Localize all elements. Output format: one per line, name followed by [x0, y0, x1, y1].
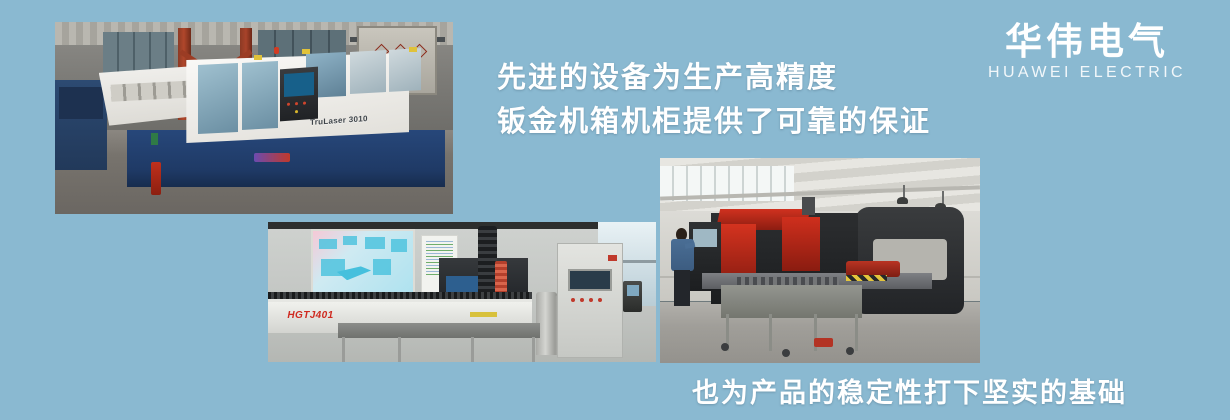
cnc-control-cabinet [557, 243, 623, 358]
cnc-button-4 [598, 298, 602, 302]
caster-wheel-2 [782, 349, 790, 357]
photo3-scene [660, 158, 980, 363]
table-leg [471, 337, 474, 362]
green-junction-box [151, 133, 159, 145]
headline-text: 先进的设备为生产高精度 钣金机箱机柜提供了可靠的保证 [497, 56, 931, 144]
company-logo: 华伟电气 HUAWEI ELECTRIC [988, 22, 1186, 82]
cnc-button-2 [580, 298, 584, 302]
notice-line [426, 256, 453, 257]
machine-model-label: HGTJ401 [287, 310, 333, 321]
photo1-scene: TruLaser 3010 [55, 22, 453, 214]
exhaust-stack [802, 197, 815, 215]
control-button-4 [295, 111, 298, 114]
side-cabinet [55, 80, 107, 170]
cnc-screen [568, 269, 612, 291]
headline-line-1: 先进的设备为生产高精度 [497, 56, 931, 100]
foot-pedal [814, 338, 833, 346]
work-table-legs [338, 337, 540, 362]
bed-slat-teeth [268, 292, 532, 299]
cnc-emergency-label [608, 255, 617, 261]
conveyor-leg [769, 314, 772, 351]
logo-chinese-name: 华伟电气 [988, 22, 1186, 62]
photo-cnc-turret-punch-press [660, 158, 980, 363]
status-beacon-light [274, 47, 279, 54]
tool-tray [254, 153, 290, 163]
photo-cnc-cutting-machine: HGTJ401 [268, 222, 656, 362]
notice-line [426, 247, 453, 248]
conveyor-legs [721, 314, 862, 351]
notice-line [426, 241, 453, 242]
wall-poster-chart [311, 229, 416, 296]
cnc-button-1 [571, 298, 575, 302]
punched-sheet-pattern [737, 277, 839, 285]
operator-control-panel [280, 67, 318, 121]
warning-sticker-3 [409, 47, 417, 52]
enclosure-window-1 [198, 63, 238, 134]
poster-block-2 [343, 236, 357, 245]
table-leg [532, 337, 535, 362]
control-button-2 [295, 102, 298, 105]
company-equipment-banner: TruLaser 3010 [0, 0, 1230, 420]
caster-wheel-1 [721, 343, 729, 351]
ceiling-lamp-1 [897, 197, 908, 204]
control-button-1 [287, 103, 290, 106]
yellow-warning-plate [470, 312, 497, 318]
notice-line [426, 244, 453, 245]
warning-sticker-1 [254, 55, 262, 60]
bottom-tagline-text: 也为产品的稳定性打下坚实的基础 [692, 371, 1127, 410]
poster-block-6 [373, 259, 391, 275]
poster-block-3 [365, 237, 385, 248]
control-button-3 [303, 102, 306, 105]
headline-line-2: 钣金机箱机柜提供了可靠的保证 [497, 100, 931, 144]
hazard-stripe-tape [846, 275, 888, 281]
poster-block-4 [391, 239, 407, 253]
caster-wheel-3 [846, 347, 854, 355]
warning-sticker-2 [302, 49, 310, 54]
operator-legs [674, 270, 690, 306]
conveyor-leg [855, 314, 858, 351]
red-housing-right [782, 217, 820, 270]
cnc-button-3 [589, 298, 593, 302]
photo-laser-cutting-machine: TruLaser 3010 [55, 22, 453, 214]
fire-extinguisher [151, 162, 161, 195]
enclosure-window-5 [389, 48, 421, 92]
pendant-controller [623, 281, 642, 312]
table-leg [398, 337, 401, 362]
notice-line [426, 250, 453, 251]
enclosure-window-4 [350, 50, 386, 94]
machine-operator [671, 228, 693, 306]
table-leg [342, 337, 345, 362]
poster-block-1 [319, 239, 337, 249]
photo2-scene: HGTJ401 [268, 222, 656, 362]
notice-line [426, 253, 453, 254]
logo-english-name: HUAWEI ELECTRIC [988, 64, 1186, 82]
enclosure-window-2 [242, 61, 278, 130]
control-panel-screen [284, 72, 314, 97]
console-screen [693, 229, 717, 247]
